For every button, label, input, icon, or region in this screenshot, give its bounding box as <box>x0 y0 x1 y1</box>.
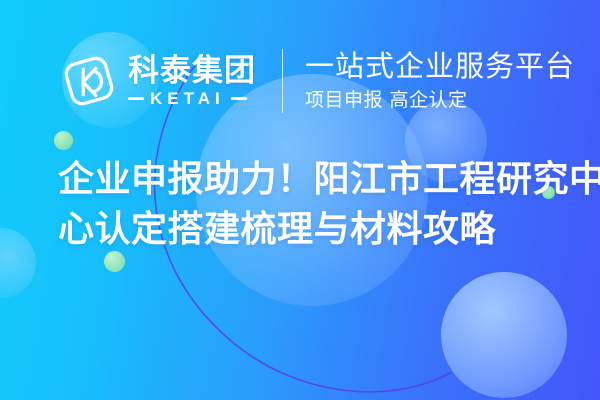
brand-wordmark: 科泰集团 KETAI <box>128 55 256 107</box>
header-divider <box>282 49 283 113</box>
promo-banner: 科泰集团 KETAI 一站式企业服务平台 项目申报 高企认定 企业申报助力！阳江… <box>0 0 600 400</box>
slogan-block: 一站式企业服务平台 项目申报 高企认定 <box>305 50 575 111</box>
headline-line-1: 企业申报助力！阳江市工程研究中 <box>58 154 558 204</box>
brand-name-cn: 科泰集团 <box>128 55 256 87</box>
slogan-sub: 项目申报 高企认定 <box>305 89 575 112</box>
decor-circle-bottom-right <box>441 272 567 398</box>
headline: 企业申报助力！阳江市工程研究中 心认定搭建梳理与材料攻略 <box>58 154 558 254</box>
headline-line-2: 心认定搭建梳理与材料攻略 <box>58 204 558 254</box>
banner-header: 科泰集团 KETAI 一站式企业服务平台 项目申报 高企认定 <box>58 44 575 118</box>
brand-rule-left-icon <box>128 97 144 100</box>
ketai-monogram-icon <box>58 50 120 112</box>
decor-dot-green-lower-left <box>104 251 125 272</box>
slogan-main: 一站式企业服务平台 <box>305 50 575 82</box>
decor-circle-left-edge <box>0 228 36 298</box>
decor-dot-green-upper-left <box>54 131 73 150</box>
brand-name-en: KETAI <box>150 90 225 107</box>
brand-rule-right-icon <box>231 97 247 100</box>
brand-name-en-row: KETAI <box>128 90 256 107</box>
